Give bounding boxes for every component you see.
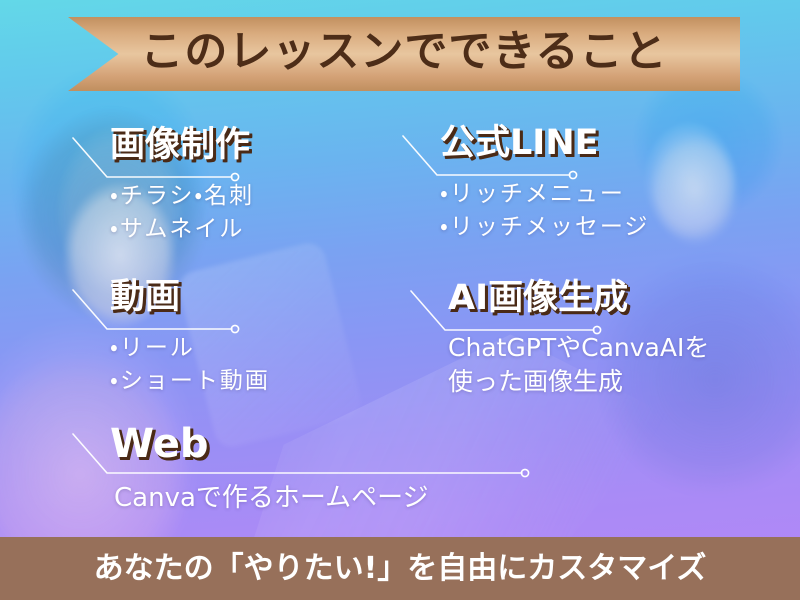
feature-official-line: 公式LINE ・リッチメニュー ・リッチメッセージ: [440, 126, 649, 243]
feature-heading-web: Web: [110, 424, 429, 464]
feature-heading-official-line: 公式LINE: [440, 126, 649, 161]
page-title: このレッスンでできること: [140, 31, 667, 77]
feature-item-ai-desc-line1: ChatGPTやCanvaAIを: [448, 331, 709, 365]
feature-item-ai-desc-line2: 使った画像生成: [448, 365, 709, 399]
feature-item-thumbnail: ・サムネイル: [110, 213, 254, 246]
feature-item-reel: ・リール: [110, 332, 270, 365]
feature-video: 動画 ・リール ・ショート動画: [110, 280, 270, 397]
title-ribbon-label-wrap: このレッスンでできること: [68, 17, 740, 91]
feature-web: Web Canvaで作るホームページ: [110, 424, 429, 517]
feature-item-canva-homepage: Canvaで作るホームページ: [114, 480, 429, 517]
footer-tagline: あなたの「やりたい!」を自由にカスタマイズ: [94, 554, 707, 584]
slide-canvas: このレッスンでできること 画像制作 ・チラシ・名刺 ・サムネイル 公式LINE …: [0, 0, 800, 600]
feature-item-rich-menu: ・リッチメニュー: [440, 178, 649, 211]
feature-ai-image-generation: AI画像生成 ChatGPTやCanvaAIを 使った画像生成: [448, 281, 709, 399]
feature-heading-image-production: 画像制作: [110, 128, 254, 163]
feature-heading-video: 動画: [110, 280, 270, 315]
feature-item-short-video: ・ショート動画: [110, 365, 270, 398]
feature-item-chirashi-meishi: ・チラシ・名刺: [110, 180, 254, 213]
footer-bar: あなたの「やりたい!」を自由にカスタマイズ: [0, 537, 800, 600]
feature-item-rich-message: ・リッチメッセージ: [440, 211, 649, 244]
feature-heading-ai-image-generation: AI画像生成: [448, 281, 709, 316]
feature-image-production: 画像制作 ・チラシ・名刺 ・サムネイル: [110, 128, 254, 245]
